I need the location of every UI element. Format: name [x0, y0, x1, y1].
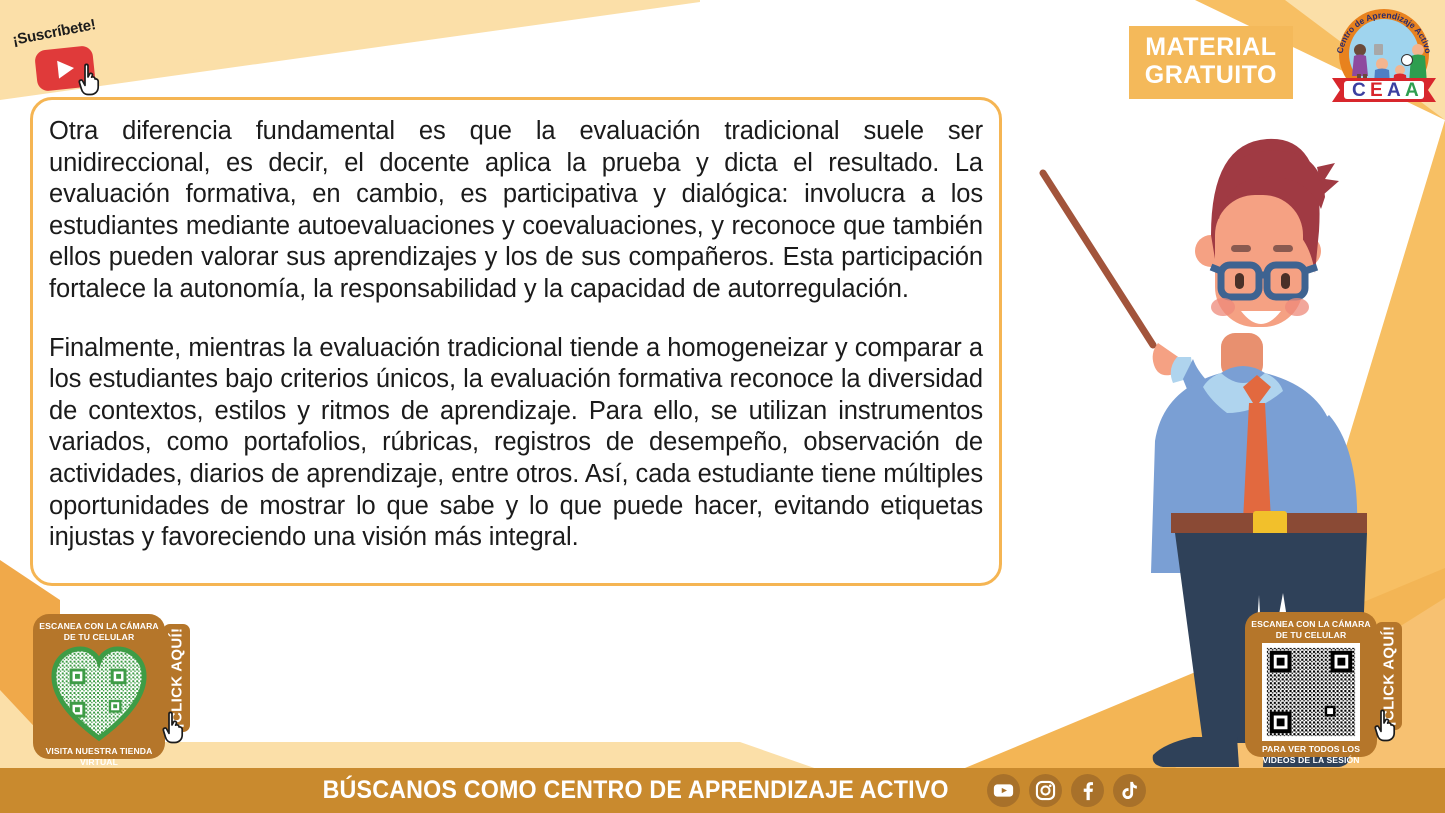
ceaa-logo: Centro de Aprendizaje Activo: [1328, 2, 1440, 107]
content-card: Otra diferencia fundamental es que la ev…: [30, 97, 1002, 586]
qr-card-store[interactable]: ESCANEA CON LA CÁMARA DE TU CELULAR: [33, 614, 165, 759]
paragraph-1: Otra diferencia fundamental es que la ev…: [49, 116, 983, 306]
social-icons-row: [987, 774, 1146, 807]
youtube-icon[interactable]: [987, 774, 1020, 807]
heart-qr-code-icon[interactable]: [50, 645, 148, 743]
tiktok-icon[interactable]: [1113, 774, 1146, 807]
paragraph-2: Finalmente, mientras la evaluación tradi…: [49, 333, 983, 554]
qr-right-bottom-text: PARA VER TODOS LOS VIDEOS DE LA SESIÓN: [1251, 744, 1371, 765]
pointing-hand-cursor-left: [160, 710, 188, 744]
subscribe-badge[interactable]: ¡Suscríbete!: [8, 18, 128, 96]
material-gratuito-badge: MATERIAL GRATUITO: [1129, 26, 1293, 99]
footer-bar: BÚSCANOS COMO CENTRO DE APRENDIZAJE ACTI…: [0, 768, 1445, 813]
square-qr-code-icon[interactable]: [1262, 643, 1360, 741]
qr-card-videos[interactable]: ESCANEA CON LA CÁMARA DE TU CELULAR: [1245, 612, 1377, 757]
pointing-hand-cursor-right: [1372, 708, 1400, 742]
subscribe-label: ¡Suscríbete!: [11, 16, 97, 49]
facebook-icon[interactable]: [1071, 774, 1104, 807]
footer-text: BÚSCANOS COMO CENTRO DE APRENDIZAJE ACTI…: [323, 776, 949, 805]
pointing-hand-cursor: [76, 62, 104, 96]
instagram-icon[interactable]: [1029, 774, 1062, 807]
qr-right-top-text: ESCANEA CON LA CÁMARA DE TU CELULAR: [1251, 619, 1371, 640]
material-badge-line2: GRATUITO: [1145, 62, 1277, 90]
material-badge-line1: MATERIAL: [1145, 34, 1277, 62]
qr-left-top-text: ESCANEA CON LA CÁMARA DE TU CELULAR: [39, 621, 159, 642]
qr-left-bottom-text: VISITA NUESTRA TIENDA VIRTUAL: [39, 746, 159, 767]
slide-canvas: ¡Suscríbete! MATERIAL GRATUITO Centro de…: [0, 0, 1445, 813]
